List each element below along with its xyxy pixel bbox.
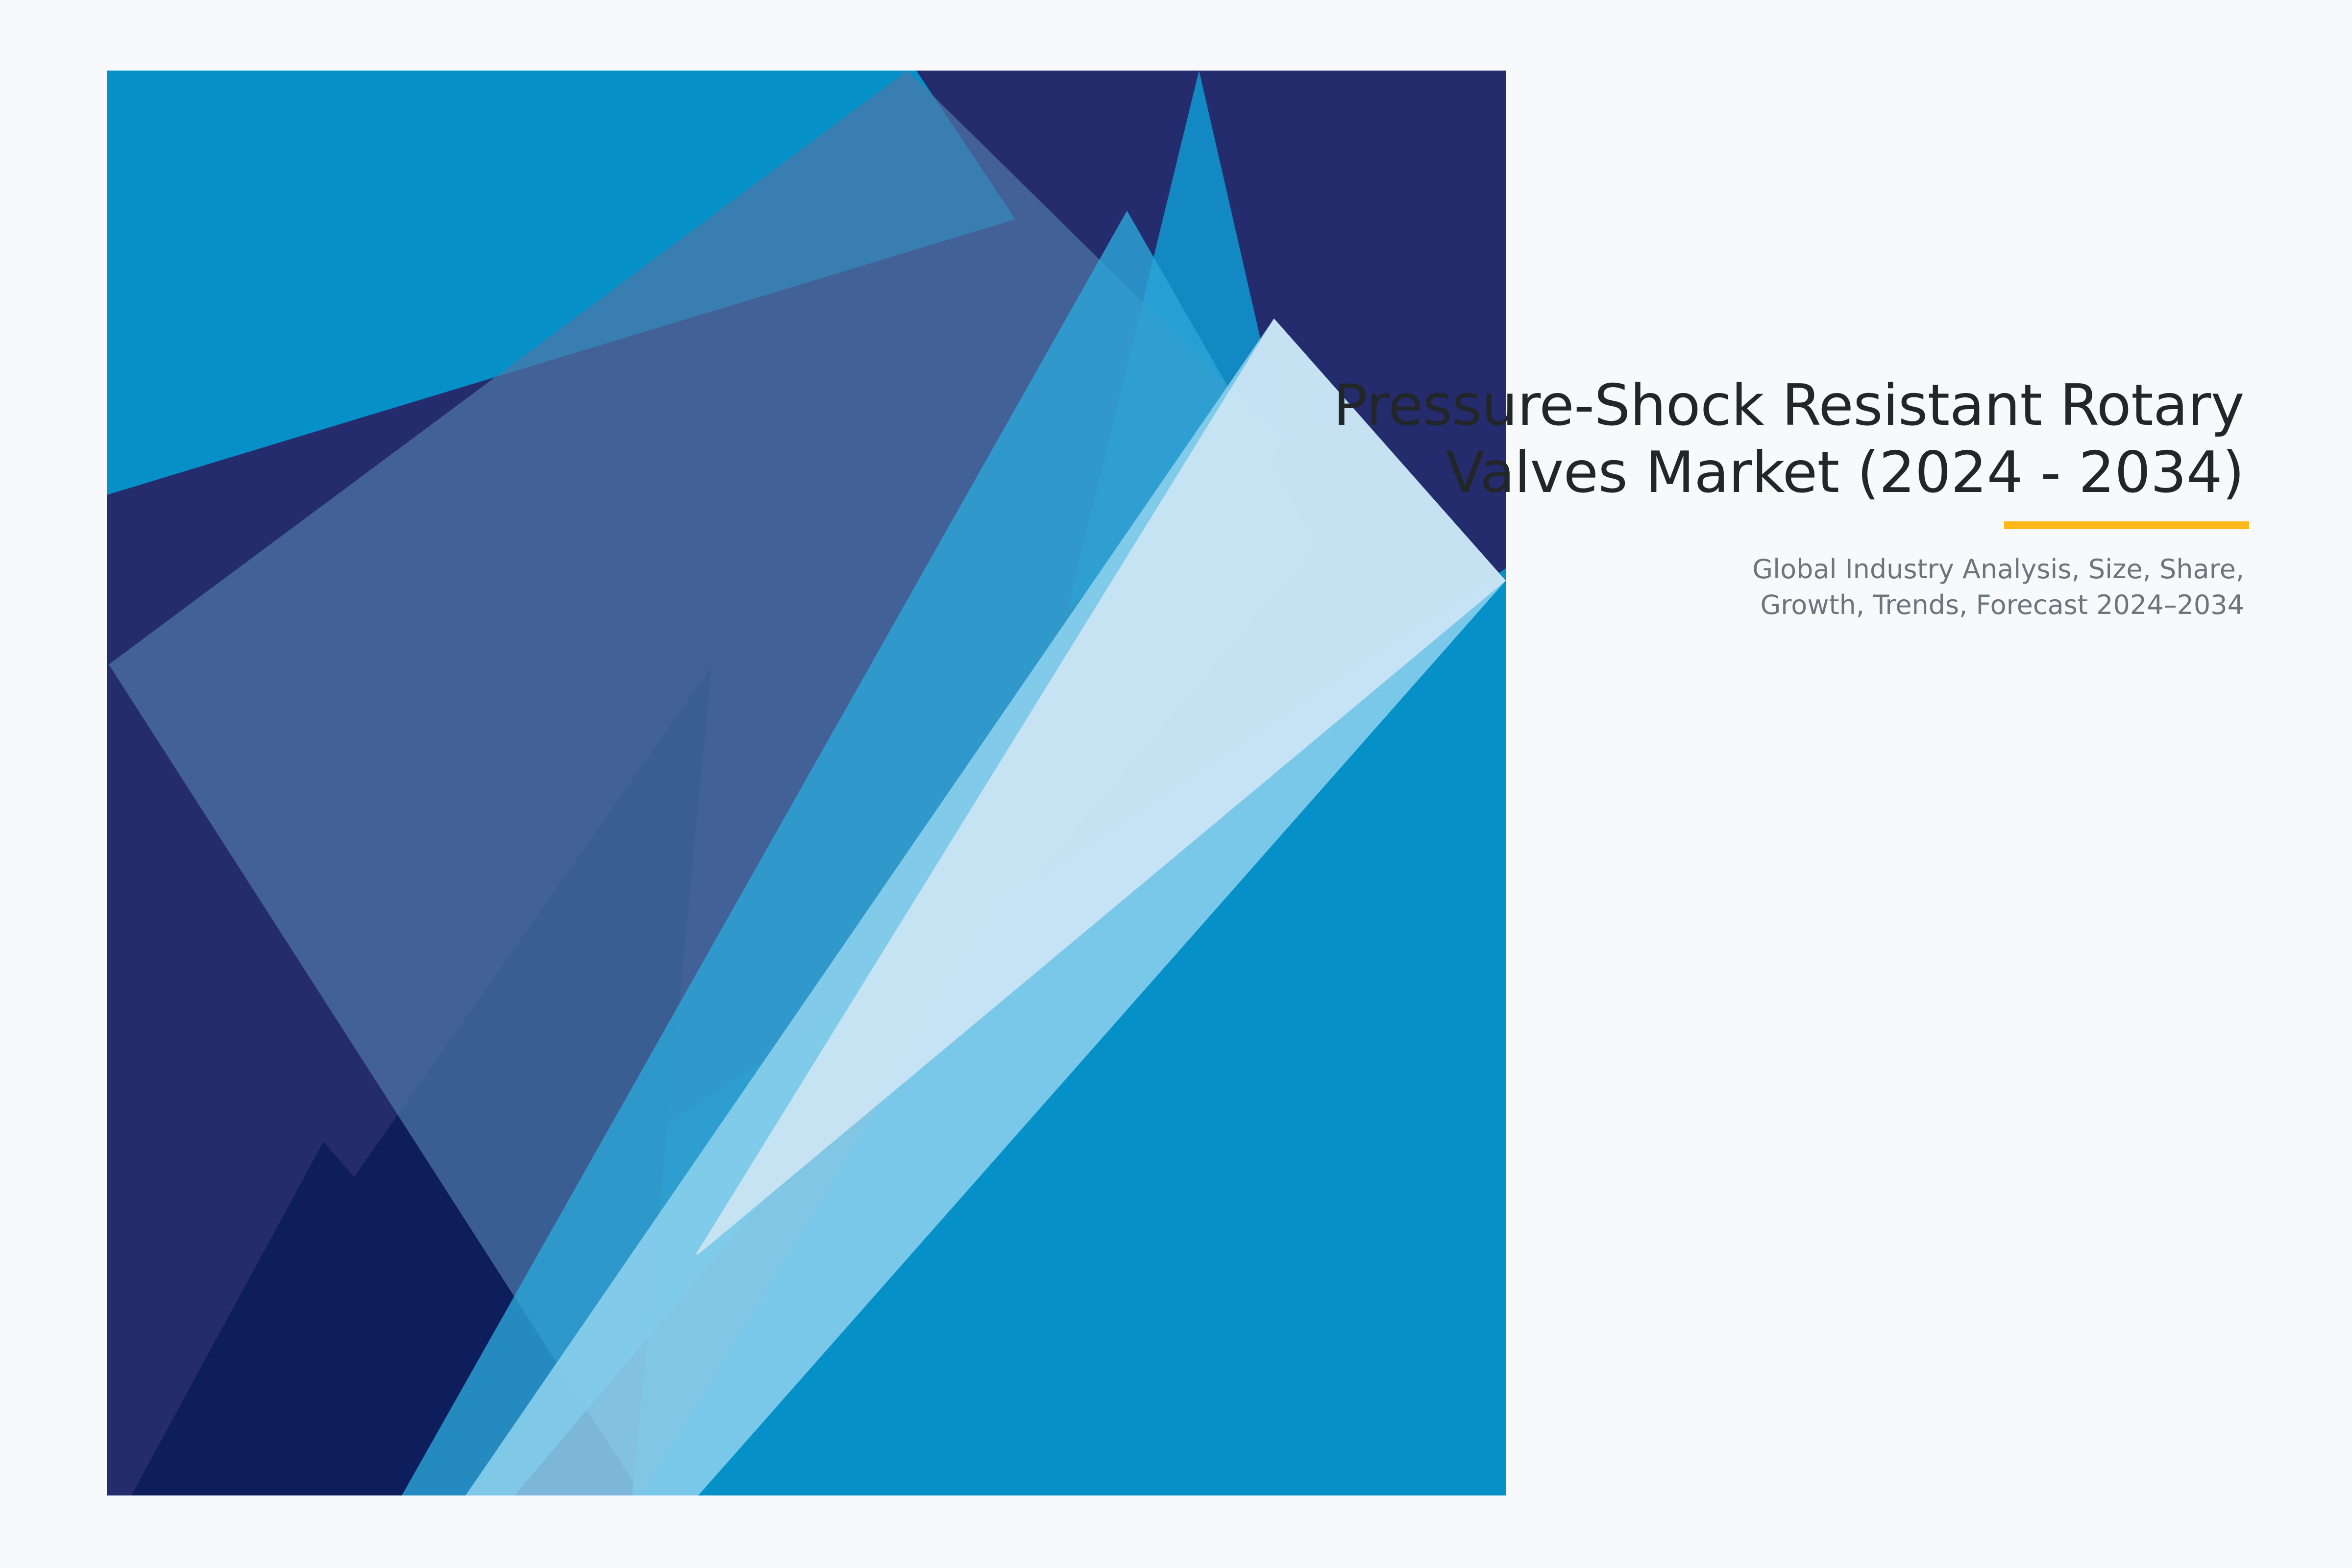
shape-steel-blue-sheet	[109, 71, 1284, 1495]
report-cover-page: Pressure-Shock Resistant Rotary Valves M…	[0, 0, 2352, 1568]
shape-navy-left-column	[107, 495, 490, 1495]
title-wrapper: Pressure-Shock Resistant Rotary Valves M…	[1029, 372, 2244, 507]
page-title: Pressure-Shock Resistant Rotary Valves M…	[1029, 372, 2244, 507]
shape-cyan-base-rect	[107, 71, 1506, 1495]
abstract-polygon-graphic	[0, 0, 2352, 1568]
artwork-layers	[107, 71, 1506, 1495]
shape-navy-upper-wedge	[107, 71, 1506, 1495]
shape-navy-dark-lower	[131, 1142, 632, 1495]
cover-text-block: Pressure-Shock Resistant Rotary Valves M…	[1029, 372, 2244, 623]
artwork-svg	[0, 0, 2352, 1568]
page-subtitle: Global Industry Analysis, Size, Share, G…	[1029, 507, 2244, 623]
shape-navy-dark-spike	[131, 666, 711, 1495]
